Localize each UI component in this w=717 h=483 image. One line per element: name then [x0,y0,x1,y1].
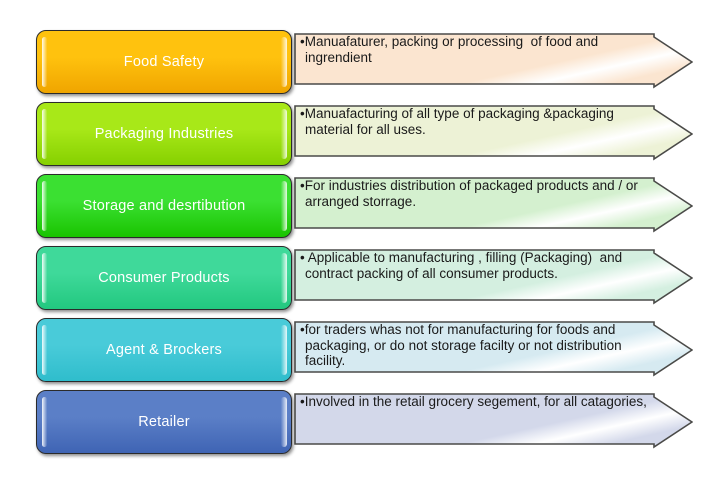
category-box-label: Agent & Brockers [106,342,222,358]
description-arrow[interactable]: •For industries distribution of packaged… [294,176,693,236]
description-arrow[interactable]: •Involved in the retail grocery segement… [294,392,693,452]
category-box-label: Consumer Products [98,270,230,286]
description-body: Applicable to manufacturing , filling (P… [305,250,626,281]
diagram-row: Consumer Products• Applicable to manufac… [0,244,717,312]
description-body: For industries distribution of packaged … [305,178,642,209]
description-body: Involved in the retail grocery segement,… [305,394,647,409]
description-arrow[interactable]: •Manuafacturing of all type of packaging… [294,104,693,164]
category-box-label: Packaging Industries [95,126,234,142]
description-text: •for traders whas not for manufacturing … [300,322,657,369]
category-box[interactable]: Agent & Brockers [36,318,292,382]
diagram-row: Packaging Industries•Manuafacturing of a… [0,100,717,168]
description-arrow[interactable]: •Manuafaturer, packing or processing of … [294,32,693,92]
description-text: •For industries distribution of packaged… [300,178,657,209]
description-text: • Applicable to manufacturing , filling … [300,250,657,281]
category-box[interactable]: Retailer [36,390,292,454]
description-text: •Involved in the retail grocery segement… [300,394,657,410]
category-box-label: Food Safety [124,54,204,70]
category-box[interactable]: Storage and desrtibution [36,174,292,238]
diagram-row: Retailer•Involved in the retail grocery … [0,388,717,456]
description-body: for traders whas not for manufacturing f… [305,322,626,368]
category-box-label: Retailer [138,414,190,430]
description-body: Manuafacturing of all type of packaging … [305,106,618,137]
description-text: •Manuafaturer, packing or processing of … [300,34,657,65]
description-body: Manuafaturer, packing or processing of f… [305,34,602,65]
diagram-row: Food Safety•Manuafaturer, packing or pro… [0,28,717,96]
description-arrow[interactable]: •for traders whas not for manufacturing … [294,320,693,380]
description-text: •Manuafacturing of all type of packaging… [300,106,657,137]
category-box-label: Storage and desrtibution [83,198,246,214]
description-arrow[interactable]: • Applicable to manufacturing , filling … [294,248,693,308]
category-box[interactable]: Food Safety [36,30,292,94]
category-box[interactable]: Consumer Products [36,246,292,310]
diagram-row: Agent & Brockers•for traders whas not fo… [0,316,717,384]
diagram-row: Storage and desrtibution•For industries … [0,172,717,240]
process-callout-diagram: Food Safety•Manuafaturer, packing or pro… [0,0,717,483]
category-box[interactable]: Packaging Industries [36,102,292,166]
